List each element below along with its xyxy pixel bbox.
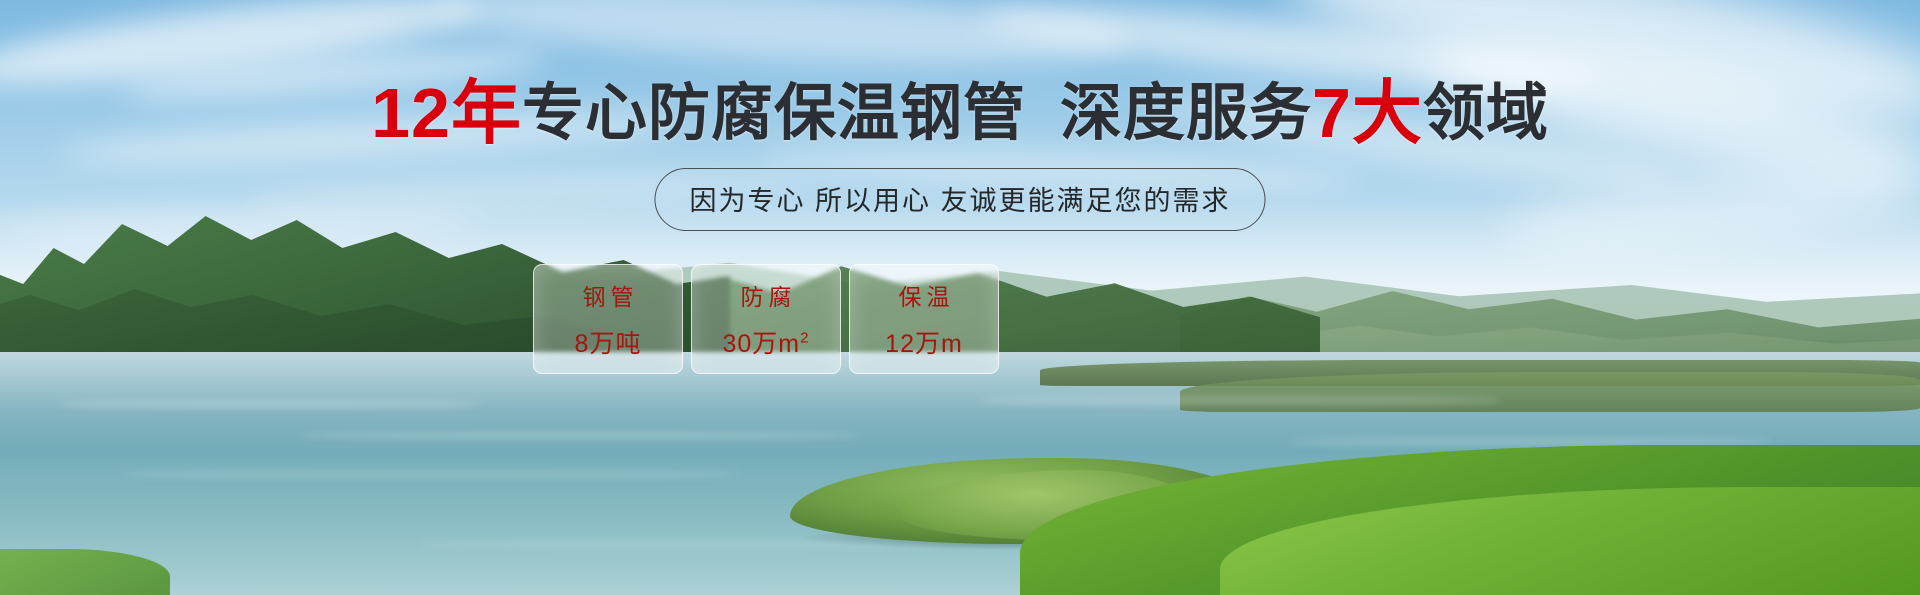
headline-fields-unit: 大 xyxy=(1352,74,1423,152)
far-shoreline-secondary xyxy=(1180,372,1920,412)
stat-value-superscript: 2 xyxy=(800,330,809,347)
water-ripple xyxy=(120,470,740,478)
stat-card-value: 8万吨 xyxy=(575,324,642,360)
hero-banner: 12年专心防腐保温钢管深度服务7大领域 因为专心 所以用心 友诚更能满足您的需求… xyxy=(0,0,1920,595)
stat-card-group: 钢管 8万吨 防腐 30万m2 保温 12万m xyxy=(533,264,999,374)
headline: 12年专心防腐保温钢管深度服务7大领域 xyxy=(0,78,1920,148)
water-ripple xyxy=(300,432,860,439)
water-ripple xyxy=(60,400,480,408)
stat-card-value: 12万m xyxy=(885,324,963,360)
stat-card-insulation[interactable]: 保温 12万m xyxy=(849,264,999,374)
stat-value-text: 8万吨 xyxy=(575,330,642,358)
stat-card-steel-pipe[interactable]: 钢管 8万吨 xyxy=(533,264,683,374)
stat-card-label: 钢管 xyxy=(578,278,639,312)
stat-value-text: 30万m xyxy=(723,330,801,358)
headline-segment-3: 领域 xyxy=(1423,79,1549,148)
headline-segment-1: 专心防腐保温钢管 xyxy=(522,79,1026,148)
headline-years-unit: 年 xyxy=(451,74,522,152)
stat-card-label: 防腐 xyxy=(736,278,797,312)
water-ripple xyxy=(1290,438,1770,445)
stat-card-label: 保温 xyxy=(894,278,955,312)
subtitle-pill: 因为专心 所以用心 友诚更能满足您的需求 xyxy=(654,168,1265,231)
headline-fields-number: 7 xyxy=(1312,74,1352,152)
stat-value-text: 12万m xyxy=(885,330,963,358)
headline-years-number: 12 xyxy=(371,74,451,152)
water-ripple xyxy=(980,396,1500,405)
stat-card-anticorrosion[interactable]: 防腐 30万m2 xyxy=(691,264,841,374)
headline-segment-2: 深度服务 xyxy=(1060,79,1312,148)
stat-card-value: 30万m2 xyxy=(723,324,810,360)
